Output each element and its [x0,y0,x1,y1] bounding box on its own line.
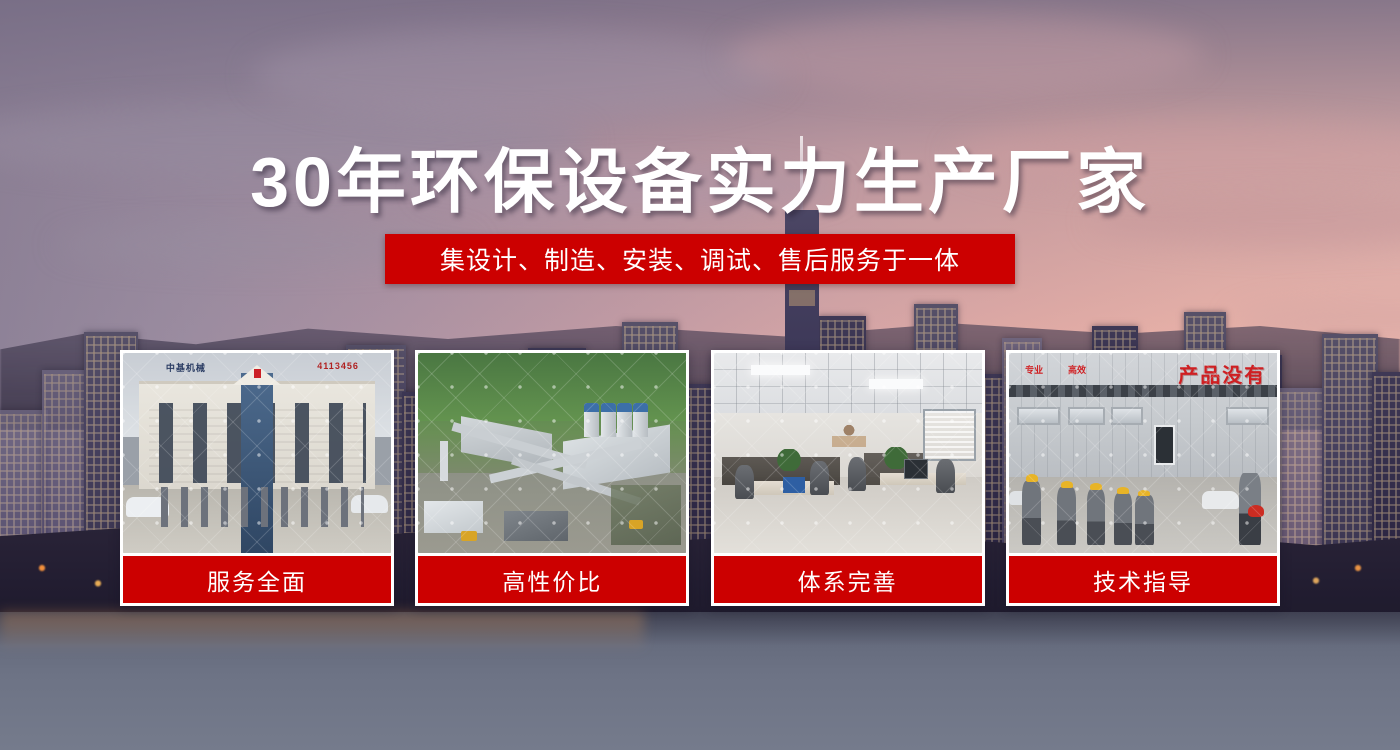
photo-company-sign: 中基机械 [166,361,206,374]
photo-factory-slogan-small: 高效 [1068,363,1086,376]
page-title: 30年环保设备实力生产厂家 [0,126,1400,227]
card-caption: 高性价比 [418,556,686,603]
photo-factory-slogan-small: 专业 [1025,363,1043,376]
card-photo-headquarters: 中基机械 4113456 [123,353,391,553]
card-photo-plant-aerial [418,353,686,553]
feature-card[interactable]: 高性价比 [415,350,689,606]
card-photo-workers: 产品没有 专业 高效 [1009,353,1277,553]
card-caption: 服务全面 [123,556,391,603]
card-caption: 技术指导 [1009,556,1277,603]
feature-card[interactable]: 产品没有 专业 高效 技术指导 [1006,350,1280,606]
promo-banner-stage: 30年环保设备实力生产厂家 集设计、制造、安装、调试、售后服务于一体 中基机械 … [0,0,1400,750]
feature-cards-row: 中基机械 4113456 服务全面 [120,350,1280,606]
feature-card[interactable]: 体系完善 [711,350,985,606]
photo-phone-number: 4113456 [317,361,359,371]
subtitle-banner: 集设计、制造、安装、调试、售后服务于一体 [385,234,1015,284]
photo-factory-slogan: 产品没有 [1178,359,1266,388]
feature-card[interactable]: 中基机械 4113456 服务全面 [120,350,394,606]
card-caption: 体系完善 [714,556,982,603]
card-photo-office [714,353,982,553]
river-light-reflection [0,612,644,652]
